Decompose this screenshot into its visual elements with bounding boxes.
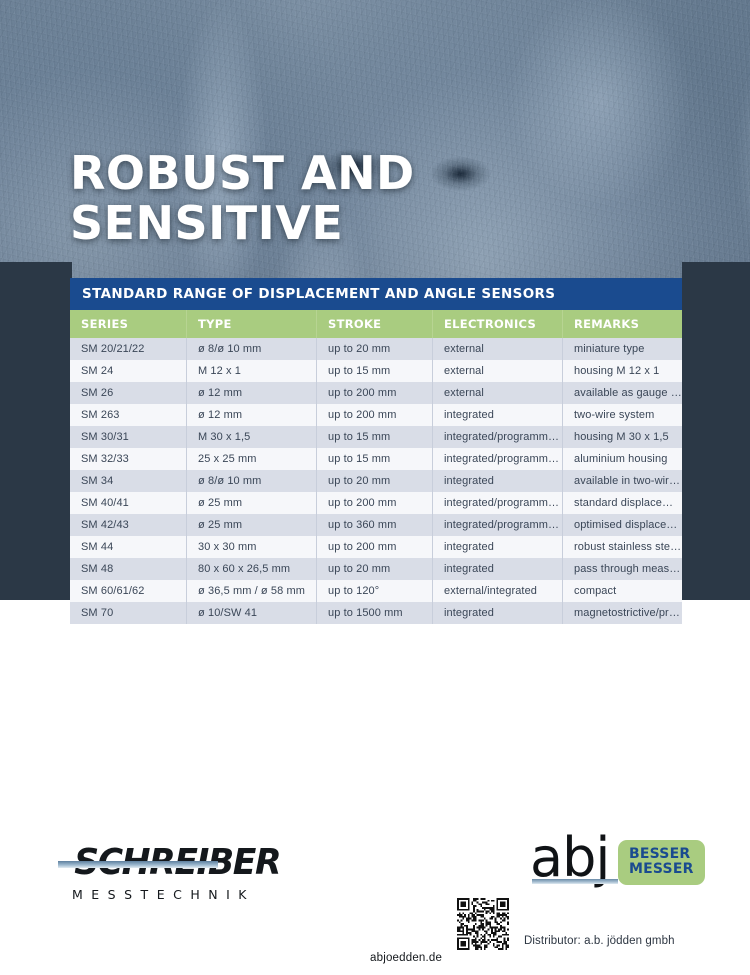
cell-electronics: integrated: [433, 536, 563, 558]
cell-type: ø 12 mm: [187, 382, 317, 404]
cell-remarks: optimised displacement sensor: [563, 514, 683, 536]
cell-stroke: up to 200 mm: [317, 492, 433, 514]
cell-series: SM 26: [70, 382, 187, 404]
cell-remarks: compact: [563, 580, 683, 602]
cell-type: 30 x 30 mm: [187, 536, 317, 558]
cell-electronics: integrated/programmable: [433, 514, 563, 536]
cell-series: SM 70: [70, 602, 187, 624]
cell-series: SM 34: [70, 470, 187, 492]
cell-electronics: external: [433, 338, 563, 360]
table-row: SM 24M 12 x 1up to 15 mmexternalhousing …: [70, 360, 682, 382]
cell-series: SM 30/31: [70, 426, 187, 448]
cell-type: M 30 x 1,5: [187, 426, 317, 448]
cell-series: SM 24: [70, 360, 187, 382]
abj-underline-icon: [532, 879, 618, 884]
navy-slab-right: [682, 262, 750, 600]
contact-block: Distributor: a.b. jödden gmbh Phone + 49…: [524, 903, 681, 975]
qr-url-label: abjoedden.de: [370, 952, 442, 964]
table-element: SERIES TYPE STROKE ELECTRONICS REMARKS S…: [70, 310, 682, 624]
schreiber-stripe-icon: [58, 861, 218, 868]
cell-electronics: integrated/programmable: [433, 448, 563, 470]
cell-remarks: miniature type: [563, 338, 683, 360]
table-body: SM 20/21/22ø 8/ø 10 mmup to 20 mmexterna…: [70, 338, 682, 624]
cell-stroke: up to 120°: [317, 580, 433, 602]
cell-electronics: external: [433, 360, 563, 382]
hero-headline: ROBUST AND SENSITIVE: [70, 148, 415, 248]
cell-stroke: up to 200 mm: [317, 404, 433, 426]
sensor-datasheet-page: ROBUST AND SENSITIVE STANDARD RANGE OF D…: [0, 0, 750, 975]
schreiber-logo: SCHREIBER MESSTECHNIK: [70, 844, 320, 902]
table-row: SM 60/61/62ø 36,5 mm / ø 58 mmup to 120°…: [70, 580, 682, 602]
table-row: SM 32/3325 x 25 mmup to 15 mmintegrated/…: [70, 448, 682, 470]
cell-series: SM 32/33: [70, 448, 187, 470]
table-row: SM 40/41ø 25 mmup to 200 mmintegrated/pr…: [70, 492, 682, 514]
contact-distributor: Distributor: a.b. jödden gmbh: [524, 934, 681, 950]
schreiber-subline: MESSTECHNIK: [70, 887, 320, 902]
cell-stroke: up to 20 mm: [317, 558, 433, 580]
cell-electronics: integrated/programmable: [433, 492, 563, 514]
cell-electronics: integrated: [433, 558, 563, 580]
column-header-type: TYPE: [187, 310, 317, 338]
cell-series: SM 40/41: [70, 492, 187, 514]
cell-remarks: two-wire system: [563, 404, 683, 426]
cell-stroke: up to 15 mm: [317, 448, 433, 470]
table-row: SM 42/43ø 25 mmup to 360 mmintegrated/pr…: [70, 514, 682, 536]
headline-line-1: ROBUST AND: [70, 148, 415, 198]
cell-remarks: housing M 30 x 1,5: [563, 426, 683, 448]
cell-remarks: pass through measuring tag: [563, 558, 683, 580]
cell-series: SM 263: [70, 404, 187, 426]
cell-remarks: standard displacement sensor: [563, 492, 683, 514]
table-title: STANDARD RANGE OF DISPLACEMENT AND ANGLE…: [70, 278, 682, 310]
abj-wordmark: abj: [530, 830, 609, 886]
cell-type: ø 8/ø 10 mm: [187, 470, 317, 492]
cell-type: ø 10/SW 41: [187, 602, 317, 624]
navy-slab-left: [0, 262, 72, 600]
column-header-stroke: STROKE: [317, 310, 433, 338]
table-row: SM 20/21/22ø 8/ø 10 mmup to 20 mmexterna…: [70, 338, 682, 360]
cell-stroke: up to 15 mm: [317, 360, 433, 382]
table-header-row: SERIES TYPE STROKE ELECTRONICS REMARKS: [70, 310, 682, 338]
cell-remarks: available in two-wire system: [563, 470, 683, 492]
cell-remarks: available as gauge type: [563, 382, 683, 404]
page-footer: SCHREIBER MESSTECHNIK abj BESSER MESSER …: [0, 612, 750, 975]
cell-electronics: external/integrated: [433, 580, 563, 602]
cell-type: ø 25 mm: [187, 492, 317, 514]
qr-code-icon[interactable]: [457, 898, 509, 950]
cell-electronics: external: [433, 382, 563, 404]
table-row: SM 26ø 12 mmup to 200 mmexternalavailabl…: [70, 382, 682, 404]
cell-series: SM 60/61/62: [70, 580, 187, 602]
cell-remarks: housing M 12 x 1: [563, 360, 683, 382]
cell-stroke: up to 20 mm: [317, 470, 433, 492]
cell-stroke: up to 200 mm: [317, 536, 433, 558]
table-head: SERIES TYPE STROKE ELECTRONICS REMARKS: [70, 310, 682, 338]
abj-logo: abj: [530, 830, 609, 886]
cell-remarks: magnetostrictive/pressure-proof: [563, 602, 683, 624]
cell-series: SM 20/21/22: [70, 338, 187, 360]
cell-type: ø 36,5 mm / ø 58 mm: [187, 580, 317, 602]
cell-series: SM 48: [70, 558, 187, 580]
cell-stroke: up to 20 mm: [317, 338, 433, 360]
table-row: SM 70ø 10/SW 41up to 1500 mmintegratedma…: [70, 602, 682, 624]
cell-type: ø 8/ø 10 mm: [187, 338, 317, 360]
cell-stroke: up to 360 mm: [317, 514, 433, 536]
cell-electronics: integrated: [433, 602, 563, 624]
cell-remarks: robust stainless steel housing: [563, 536, 683, 558]
cell-type: 25 x 25 mm: [187, 448, 317, 470]
cell-remarks: aluminium housing: [563, 448, 683, 470]
table-row: SM 34ø 8/ø 10 mmup to 20 mmintegratedava…: [70, 470, 682, 492]
cell-electronics: integrated: [433, 470, 563, 492]
table-row: SM 263ø 12 mmup to 200 mmintegratedtwo-w…: [70, 404, 682, 426]
cell-electronics: integrated: [433, 404, 563, 426]
table-row: SM 4880 x 60 x 26,5 mmup to 20 mmintegra…: [70, 558, 682, 580]
cell-type: 80 x 60 x 26,5 mm: [187, 558, 317, 580]
table-row: SM 4430 x 30 mmup to 200 mmintegratedrob…: [70, 536, 682, 558]
sensor-range-table: STANDARD RANGE OF DISPLACEMENT AND ANGLE…: [70, 278, 682, 624]
badge-line-1: BESSER: [629, 847, 694, 862]
cell-type: M 12 x 1: [187, 360, 317, 382]
besser-messer-badge: BESSER MESSER: [618, 840, 705, 885]
cell-type: ø 12 mm: [187, 404, 317, 426]
headline-line-2: SENSITIVE: [70, 198, 415, 248]
badge-line-2: MESSER: [629, 862, 694, 877]
cell-type: ø 25 mm: [187, 514, 317, 536]
cell-series: SM 42/43: [70, 514, 187, 536]
column-header-remarks: REMARKS: [563, 310, 683, 338]
cell-stroke: up to 1500 mm: [317, 602, 433, 624]
cell-series: SM 44: [70, 536, 187, 558]
cell-stroke: up to 200 mm: [317, 382, 433, 404]
cell-electronics: integrated/programmable: [433, 426, 563, 448]
cell-stroke: up to 15 mm: [317, 426, 433, 448]
column-header-electronics: ELECTRONICS: [433, 310, 563, 338]
column-header-series: SERIES: [70, 310, 187, 338]
table-row: SM 30/31M 30 x 1,5up to 15 mmintegrated/…: [70, 426, 682, 448]
